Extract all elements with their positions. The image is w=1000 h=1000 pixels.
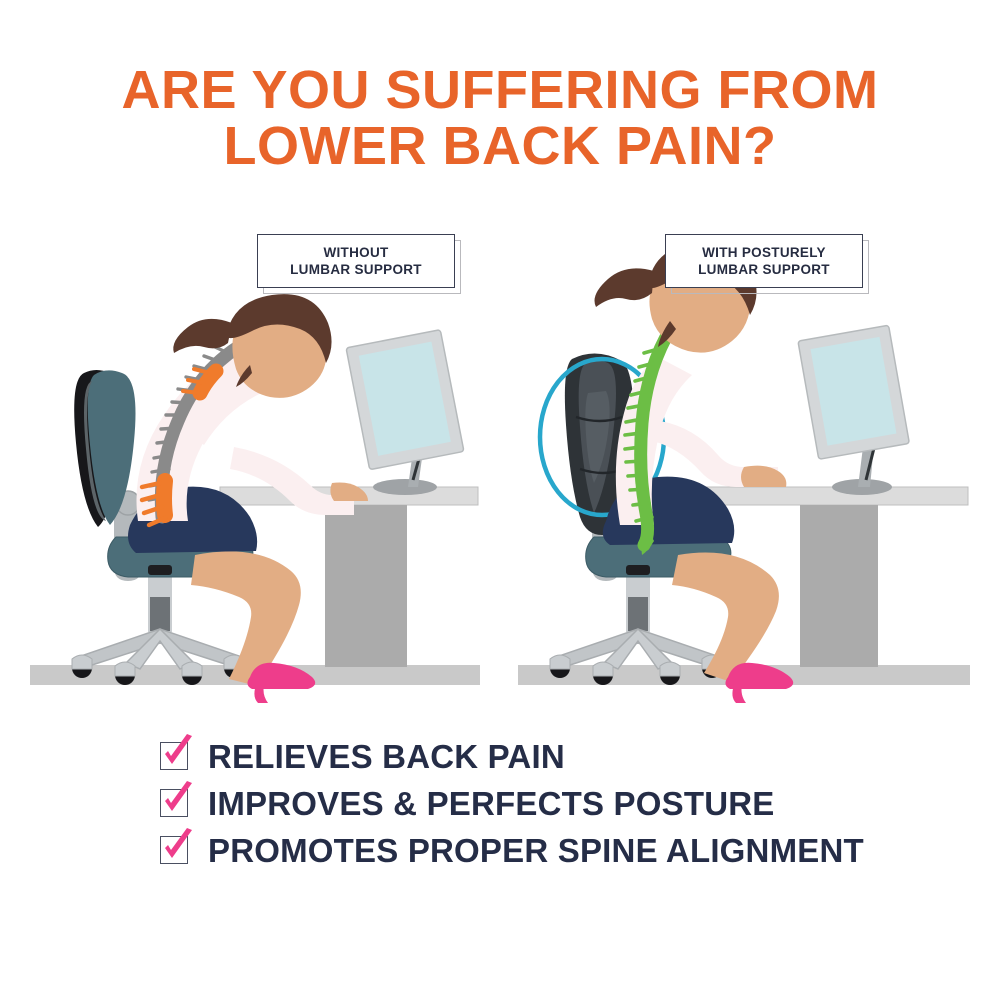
hand xyxy=(330,483,368,502)
label-line-1: WITH POSTURELY xyxy=(702,244,826,261)
pain-zone-lumbar xyxy=(164,481,165,515)
list-item: RELIEVES BACK PAIN xyxy=(160,738,920,776)
list-item: PROMOTES PROPER SPINE ALIGNMENT xyxy=(160,832,920,870)
check-icon xyxy=(158,734,198,776)
panel-without-lumbar-support: WITHOUT LUMBAR SUPPORT xyxy=(20,225,500,705)
benefit-text: PROMOTES PROPER SPINE ALIGNMENT xyxy=(208,832,864,870)
checkbox-checked[interactable] xyxy=(160,789,190,819)
chair-cylinder-dark xyxy=(628,597,648,631)
list-item: IMPROVES & PERFECTS POSTURE xyxy=(160,785,920,823)
ponytail xyxy=(595,268,655,307)
page-title: ARE YOU SUFFERING FROM LOWER BACK PAIN? xyxy=(0,62,1000,174)
label-line-2: LUMBAR SUPPORT xyxy=(290,261,422,278)
infographic-page: ARE YOU SUFFERING FROM LOWER BACK PAIN? xyxy=(0,0,1000,1000)
benefits-list: RELIEVES BACK PAIN IMPROVES & PERFECTS P… xyxy=(160,738,920,879)
monitor xyxy=(346,330,464,470)
ponytail xyxy=(173,319,232,353)
check-icon xyxy=(158,781,198,823)
hand xyxy=(741,466,786,487)
label-line-2: LUMBAR SUPPORT xyxy=(698,261,830,278)
illustration-supported-posture xyxy=(510,225,990,705)
checkbox-checked[interactable] xyxy=(160,836,190,866)
chair-lever xyxy=(148,565,172,575)
benefit-text: RELIEVES BACK PAIN xyxy=(208,738,565,776)
monitor-base xyxy=(373,479,437,495)
benefit-text: IMPROVES & PERFECTS POSTURE xyxy=(208,785,774,823)
desk-pedestal xyxy=(800,505,878,667)
label-line-1: WITHOUT xyxy=(323,244,388,261)
check-icon xyxy=(158,828,198,870)
checkbox-checked[interactable] xyxy=(160,742,190,772)
headline-line-1: ARE YOU SUFFERING FROM xyxy=(0,62,1000,118)
label-frame: WITH POSTURELY LUMBAR SUPPORT xyxy=(665,234,863,288)
desk-pedestal xyxy=(325,505,407,667)
illustration-slouched-posture xyxy=(20,225,500,705)
label-without-lumbar-support: WITHOUT LUMBAR SUPPORT xyxy=(257,234,463,296)
chair-lever xyxy=(626,565,650,575)
monitor xyxy=(798,325,909,459)
leg xyxy=(672,553,779,682)
headline-line-2: LOWER BACK PAIN? xyxy=(0,118,1000,174)
panel-with-lumbar-support: WITH POSTURELY LUMBAR SUPPORT xyxy=(510,225,990,705)
label-frame: WITHOUT LUMBAR SUPPORT xyxy=(257,234,455,288)
label-with-lumbar-support: WITH POSTURELY LUMBAR SUPPORT xyxy=(665,234,871,296)
chair-cylinder-dark xyxy=(150,597,170,631)
